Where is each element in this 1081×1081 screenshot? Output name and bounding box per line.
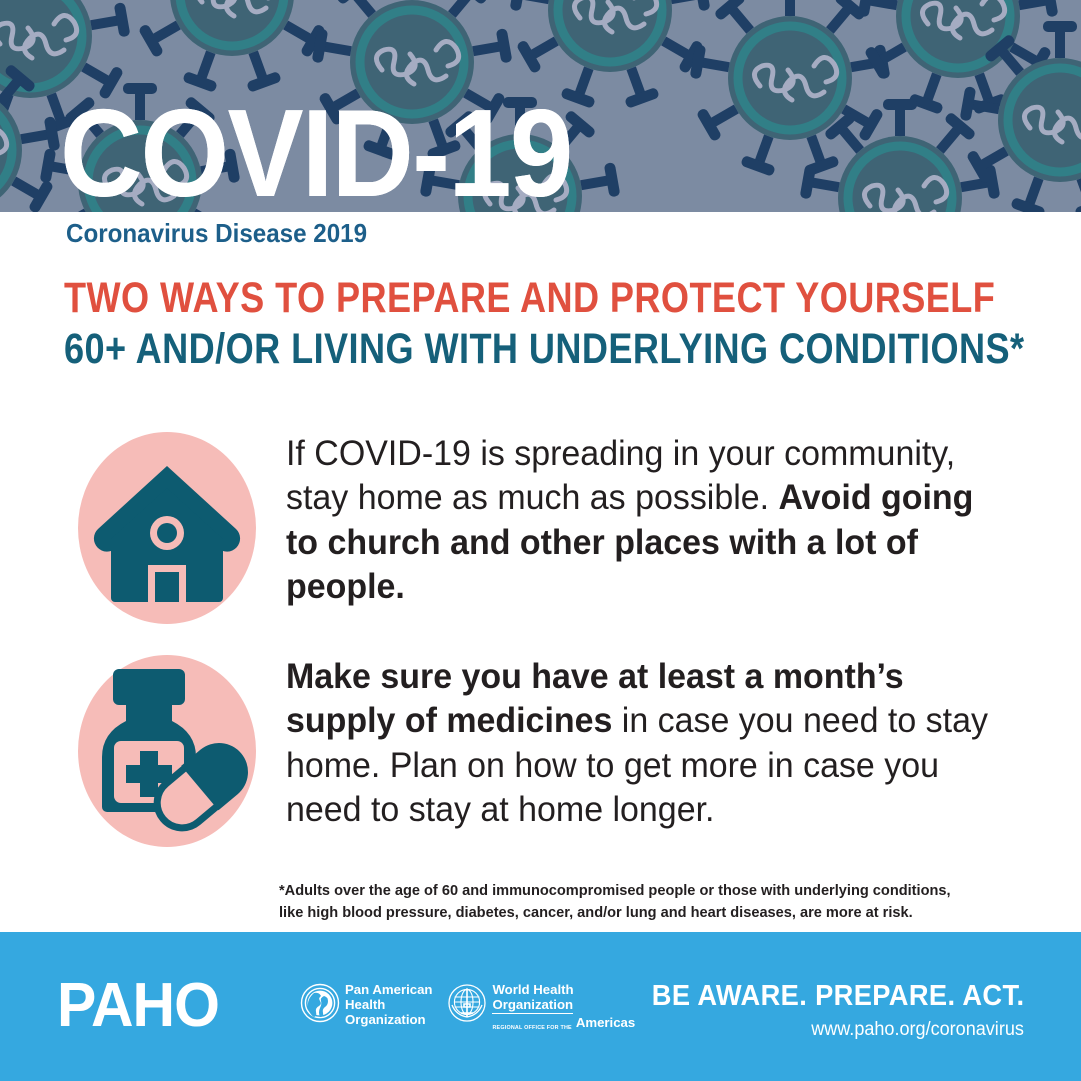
paho-logo-line-2: Health xyxy=(345,998,432,1013)
paho-logo: Pan American Health Organization xyxy=(300,983,432,1028)
footnote: *Adults over the age of 60 and immunocom… xyxy=(279,880,951,924)
tip-icon-wrapper xyxy=(78,655,256,847)
paho-logo-text: Pan American Health Organization xyxy=(345,983,432,1028)
tip-text: If COVID-19 is spreading in your communi… xyxy=(286,432,1009,609)
who-region-name: Americas xyxy=(576,1016,635,1031)
organization-logo-lockup: Pan American Health Organization World H… xyxy=(300,983,635,1031)
footer-url[interactable]: www.paho.org/coronavirus xyxy=(811,1019,1024,1041)
paho-logo-line-1: Pan American xyxy=(345,983,432,998)
page-title: COVID-19 xyxy=(60,92,571,212)
tip-icon-wrapper xyxy=(78,432,256,624)
medicine-bottle-icon xyxy=(78,655,256,847)
tip-item: If COVID-19 is spreading in your communi… xyxy=(78,432,1031,624)
page-subtitle: Coronavirus Disease 2019 xyxy=(66,218,367,249)
paho-globe-icon xyxy=(300,983,340,1023)
tip-text: Make sure you have at least a month’s su… xyxy=(286,655,1009,832)
paho-logo-line-3: Organization xyxy=(345,1013,432,1028)
who-emblem-icon xyxy=(447,983,487,1023)
covid-infographic-poster: COVID-19 Coronavirus Disease 2019 TWO WA… xyxy=(0,0,1081,1081)
tip-item: Make sure you have at least a month’s su… xyxy=(78,655,1031,847)
header-banner: COVID-19 xyxy=(0,0,1081,212)
headline: TWO WAYS TO PREPARE AND PROTECT YOURSELF… xyxy=(64,276,1044,371)
who-logo: World Health Organization REGIONAL OFFIC… xyxy=(447,983,635,1031)
who-logo-line-1: World Health xyxy=(492,983,635,998)
paho-wordmark: PAHO xyxy=(57,975,219,1037)
who-logo-text: World Health Organization REGIONAL OFFIC… xyxy=(492,983,635,1031)
headline-line-2: 60+ AND/OR LIVING WITH UNDERLYING CONDIT… xyxy=(64,327,887,372)
headline-line-1: TWO WAYS TO PREPARE AND PROTECT YOURSELF xyxy=(64,276,887,321)
house-icon xyxy=(78,432,256,624)
who-regional-label: REGIONAL OFFICE FOR THE xyxy=(492,1025,571,1031)
footer-tagline: BE AWARE. PREPARE. ACT. xyxy=(651,980,1024,1013)
who-logo-line-2: Organization xyxy=(492,998,573,1014)
